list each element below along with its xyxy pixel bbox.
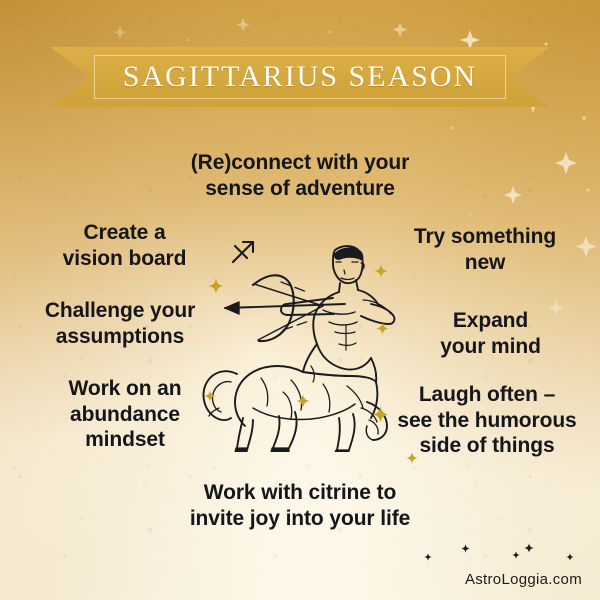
footer-star-icon-2 [461,540,470,558]
footer-star-icon-1 [424,548,432,566]
tip-expand-your-mind: Expand your mind [388,308,593,359]
watermark-text: AstroLoggia.com [465,571,582,588]
sparkle-gold-right-lower [372,406,389,423]
sparkle-gold-bottom-right [406,452,418,464]
footer-star-icon-4 [524,540,534,558]
sagittarius-glyph [233,242,253,262]
tip-citrine-joy: Work with citrine to invite joy into you… [150,480,450,531]
title-banner: Sagittarius Season [50,47,550,107]
sparkle-gold-left-upper [208,278,224,294]
footer-star-icon-5 [566,548,574,566]
sparkle-gold-right-middle [376,322,389,335]
tip-reconnect-adventure: (Re)connect with your sense of adventure [150,150,450,201]
footer-star-icon-3 [512,546,520,564]
sparkle-gold-center-lower [296,394,310,408]
footer-watermark: AstroLoggia.com [392,548,582,588]
sparkle-gold-left-lower [204,390,216,402]
tip-abundance-mindset: Work on an abundance mindset [30,376,220,453]
page-title: Sagittarius Season [50,47,550,107]
sagittarius-season-poster: Sagittarius Season (Re)connect with your… [0,0,600,600]
sparkle-gold-right-upper [374,264,388,278]
